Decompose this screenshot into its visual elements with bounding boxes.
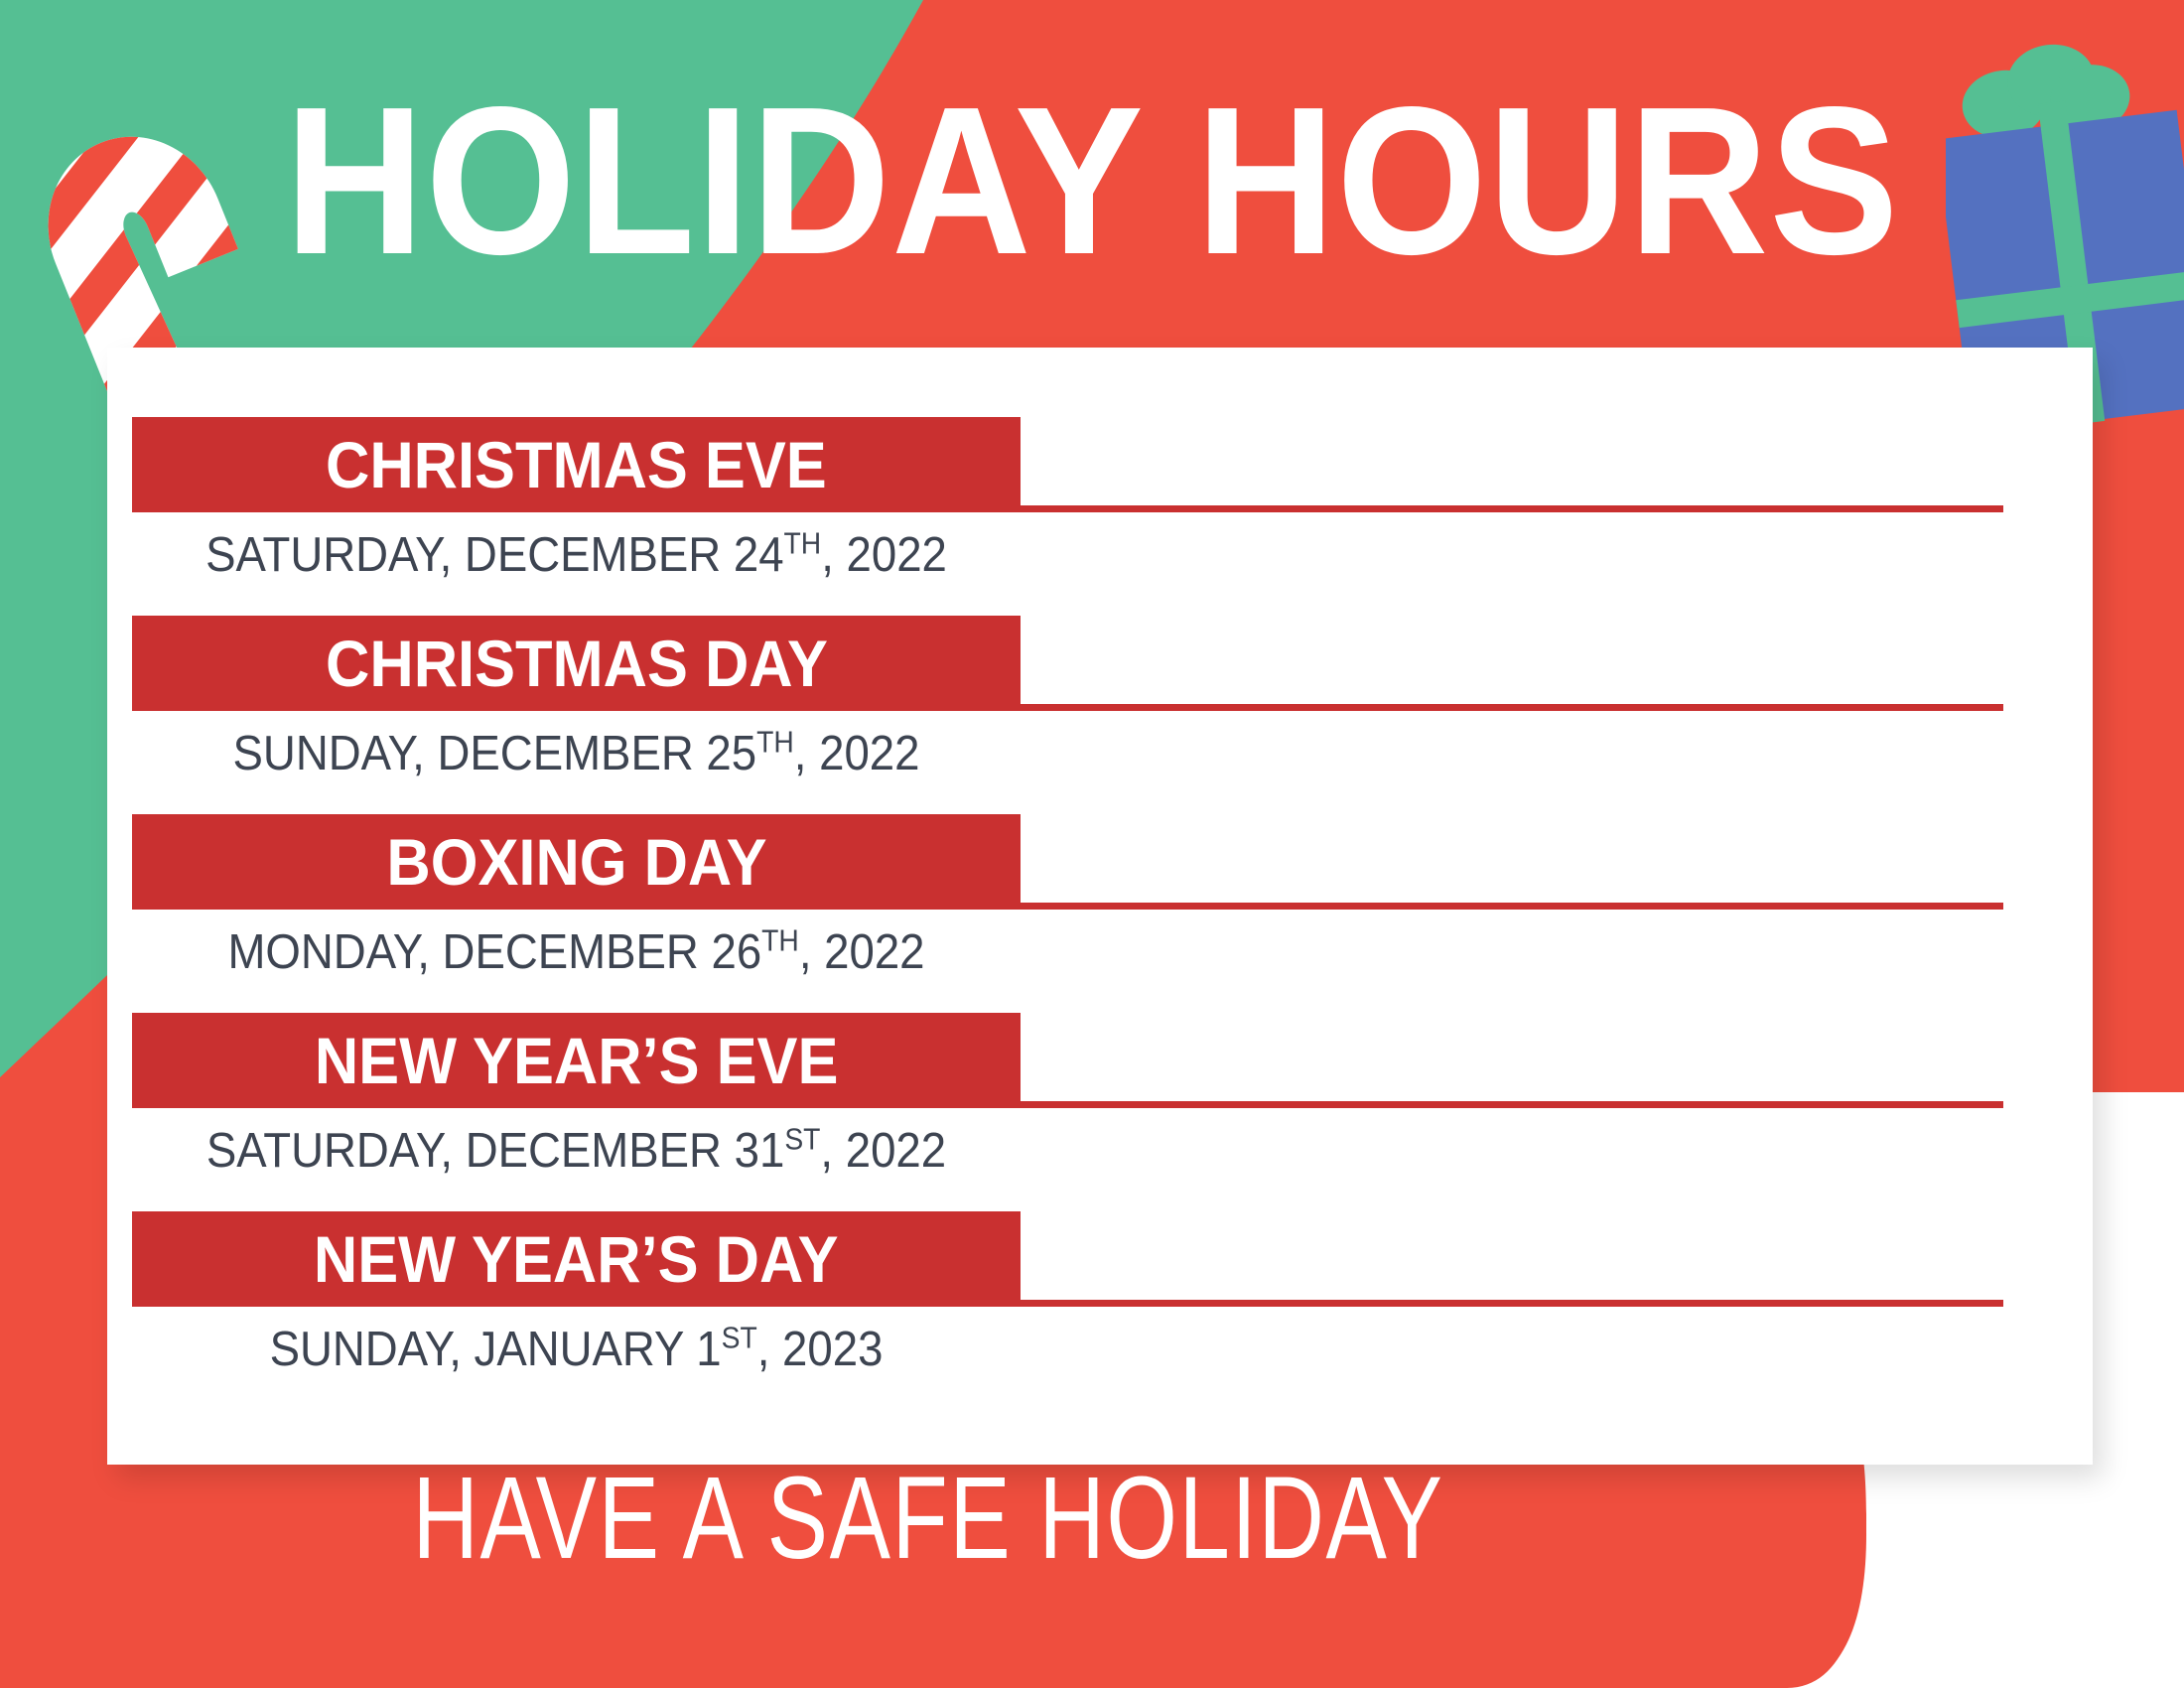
date-prefix: SUNDAY, DECEMBER 25 <box>233 727 757 780</box>
holiday-name-banner: BOXING DAY <box>132 814 1021 910</box>
date-ordinal: TH <box>761 924 799 958</box>
holiday-name: CHRISTMAS DAY <box>326 631 828 696</box>
date-prefix: SATURDAY, DECEMBER 31 <box>206 1124 784 1178</box>
footer: HAVE A SAFE HOLIDAY <box>0 1460 2184 1577</box>
holiday-date: SUNDAY, JANUARY 1ST, 2023 <box>163 1326 989 1374</box>
holiday-name: CHRISTMAS EVE <box>326 432 827 497</box>
date-suffix: , 2022 <box>821 528 947 582</box>
date-prefix: SATURDAY, DECEMBER 24 <box>205 528 783 582</box>
hours-write-in-line[interactable] <box>1021 903 2003 910</box>
holiday-name-banner: NEW YEAR’S DAY <box>132 1211 1021 1307</box>
holiday-date: SATURDAY, DECEMBER 24TH, 2022 <box>163 531 989 580</box>
hours-write-in-line[interactable] <box>1021 704 2003 711</box>
hours-card: CHRISTMAS EVE SATURDAY, DECEMBER 24TH, 2… <box>107 348 2093 1465</box>
date-suffix: , 2022 <box>820 1124 946 1178</box>
date-ordinal: TH <box>756 726 794 760</box>
holiday-name: BOXING DAY <box>386 829 766 895</box>
holiday-date: MONDAY, DECEMBER 26TH, 2022 <box>163 928 989 977</box>
footer-message: HAVE A SAFE HOLIDAY <box>412 1460 1443 1577</box>
holiday-date: SUNDAY, DECEMBER 25TH, 2022 <box>163 730 989 778</box>
holiday-name-banner: CHRISTMAS EVE <box>132 417 1021 512</box>
holiday-name: NEW YEAR’S DAY <box>314 1226 839 1292</box>
date-prefix: MONDAY, DECEMBER 26 <box>227 925 761 979</box>
holiday-date: SATURDAY, DECEMBER 31ST, 2022 <box>163 1127 989 1176</box>
hours-write-in-line[interactable] <box>1021 1300 2003 1307</box>
date-ordinal: ST <box>722 1322 757 1355</box>
date-ordinal: TH <box>784 527 822 561</box>
holiday-name-banner: NEW YEAR’S EVE <box>132 1013 1021 1108</box>
page-title: HOLIDAY HOURS <box>87 75 2097 286</box>
holiday-name-banner: CHRISTMAS DAY <box>132 616 1021 711</box>
date-ordinal: ST <box>784 1123 820 1157</box>
date-suffix: , 2022 <box>794 727 920 780</box>
date-suffix: , 2022 <box>799 925 925 979</box>
hours-write-in-line[interactable] <box>1021 1101 2003 1108</box>
holiday-hours-poster: HOLIDAY HOURS CHRISTMAS EVE SATURDAY, DE… <box>0 0 2184 1688</box>
hours-write-in-line[interactable] <box>1021 505 2003 512</box>
date-suffix: , 2023 <box>757 1323 884 1376</box>
date-prefix: SUNDAY, JANUARY 1 <box>270 1323 722 1376</box>
holiday-name: NEW YEAR’S EVE <box>315 1028 839 1093</box>
